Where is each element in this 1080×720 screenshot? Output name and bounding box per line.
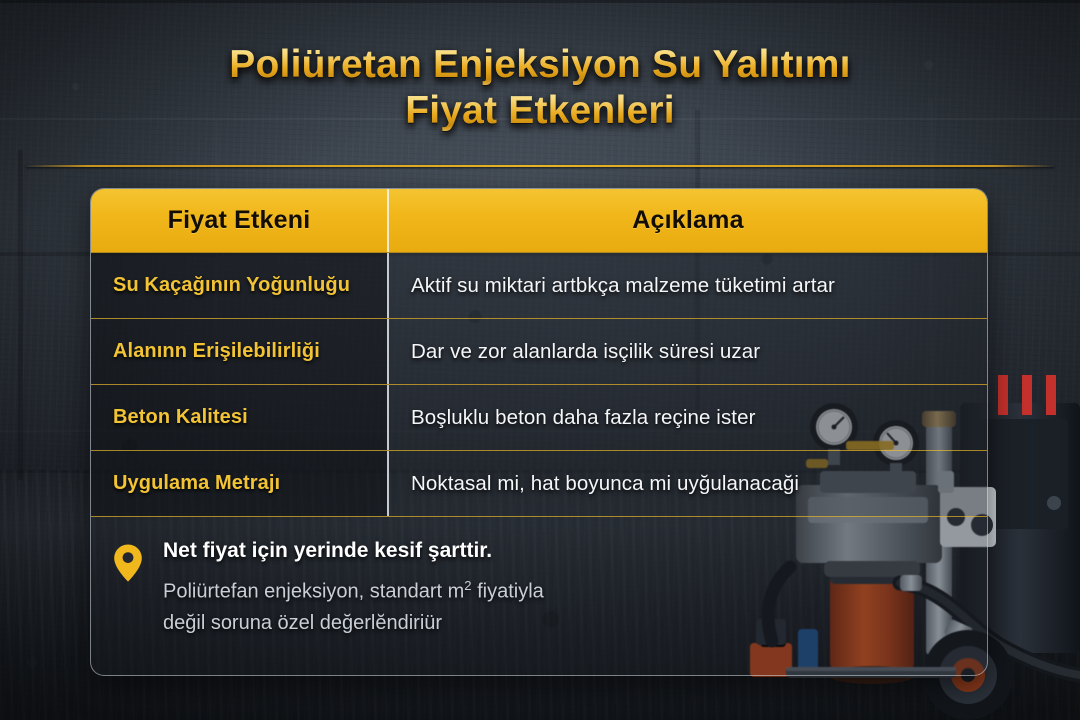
factor-label: Beton Kalitesi: [113, 406, 248, 429]
description-text: Noktasal mi, hat boyunca mi uyğulanacaği: [411, 472, 799, 496]
title-divider: [26, 165, 1054, 167]
table-cell-factor: Beton Kalitesi: [91, 385, 389, 450]
table-row: Alanınn Erişilebilirliği Dar ve zor alan…: [91, 319, 987, 385]
table-header-row: Fiyat Etkeni Açıklama: [91, 189, 987, 253]
location-pin-icon: [113, 539, 159, 676]
table-cell-description: Noktasal mi, hat boyunca mi uyğulanacaği: [389, 451, 987, 516]
table-cell-factor: Uygulama Metrajı: [91, 451, 389, 516]
footer-note-title: Net fiyat için yerinde kesif şarttir.: [163, 539, 544, 563]
factor-label: Alanınn Erişilebilirliği: [113, 340, 320, 363]
footer-note-line-1-pre: Poliürtefan enjeksiyon, standart m: [163, 581, 464, 603]
factor-label: Uygulama Metrajı: [113, 472, 280, 495]
description-text: Boşluklu beton daha fazla reçine ister: [411, 406, 756, 430]
footer-note-line-1: Poliürtefan enjeksiyon, standart m2 fiya…: [163, 570, 544, 608]
factor-label: Su Kaçağının Yoğunluğu: [113, 274, 350, 297]
page-title: Poliüretan Enjeksiyon Su Yalıtımı Fiyat …: [0, 42, 1080, 134]
table-cell-description: Boşluklu beton daha fazla reçine ister: [389, 385, 987, 450]
column-header-factor: Fiyat Etkeni: [91, 189, 389, 252]
footer-note-line-1-post: fiyatiyla: [472, 581, 544, 603]
location-pin-glyph: [113, 543, 143, 583]
footer-note-text: Net fiyat için yerinde kesif şarttir. Po…: [159, 539, 544, 676]
footer-note-line-2: değil soruna özel değerlĕndiriür: [163, 608, 544, 639]
column-header-description: Açıklama: [389, 189, 987, 252]
table-row: Beton Kalitesi Boşluklu beton daha fazla…: [91, 385, 987, 451]
description-text: Aktif su miktari artbkça malzeme tüketim…: [411, 274, 835, 298]
infographic-canvas: Poliüretan Enjeksiyon Su Yalıtımı Fiyat …: [0, 0, 1080, 720]
footer-note: Net fiyat için yerinde kesif şarttir. Po…: [91, 517, 987, 676]
page-title-line-1: Poliüretan Enjeksiyon Su Yalıtımı: [0, 42, 1080, 88]
table-cell-factor: Alanınn Erişilebilirliği: [91, 319, 389, 384]
table-row: Uygulama Metrajı Noktasal mi, hat boyunc…: [91, 451, 987, 517]
table-cell-description: Dar ve zor alanlarda isçilik süresi uzar: [389, 319, 987, 384]
footer-note-superscript: 2: [464, 578, 471, 593]
page-title-line-2: Fiyat Etkenleri: [0, 88, 1080, 134]
table-row: Su Kaçağının Yoğunluğu Aktif su miktari …: [91, 253, 987, 319]
price-factors-card: Fiyat Etkeni Açıklama Su Kaçağının Yoğun…: [90, 188, 988, 676]
table-cell-factor: Su Kaçağının Yoğunluğu: [91, 253, 389, 318]
description-text: Dar ve zor alanlarda isçilik süresi uzar: [411, 340, 760, 364]
table-cell-description: Aktif su miktari artbkça malzeme tüketim…: [389, 253, 987, 318]
